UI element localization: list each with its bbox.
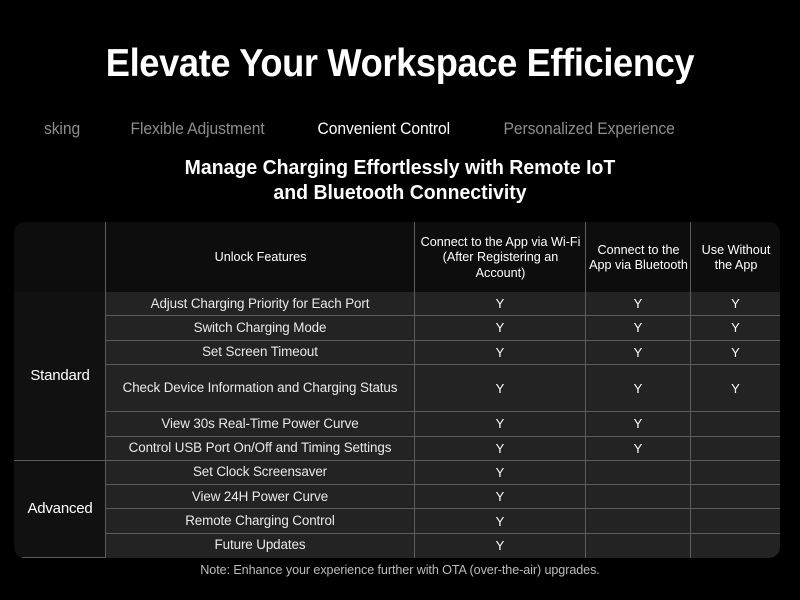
support-cell-no-app	[691, 412, 781, 436]
table-row: Switch Charging ModeYYY	[15, 316, 781, 340]
group-label-advanced: Advanced	[15, 460, 106, 557]
section-subtitle: Manage Charging Effortlessly with Remote…	[20, 155, 780, 205]
support-cell-bluetooth	[586, 485, 691, 509]
support-cell-no-app	[691, 436, 781, 460]
support-cell-no-app: Y	[691, 340, 781, 364]
support-cell-bluetooth: Y	[586, 340, 691, 364]
support-cell-wifi: Y	[415, 316, 586, 340]
header-use-without-app: Use Without the App	[692, 223, 779, 292]
feature-name-cell: Set Clock Screensaver	[106, 460, 415, 484]
table-header-row: Unlock Features Connect to the App via W…	[15, 223, 781, 292]
support-cell-wifi: Y	[415, 509, 586, 533]
nav-item-0[interactable]: sking	[43, 120, 79, 139]
table-row: Remote Charging ControlY	[15, 509, 781, 533]
table-row: Check Device Information and Charging St…	[15, 364, 781, 411]
support-cell-bluetooth: Y	[586, 412, 691, 436]
page-title: Elevate Your Workspace Efficiency	[28, 40, 772, 88]
support-cell-bluetooth: Y	[586, 316, 691, 340]
support-cell-wifi: Y	[415, 412, 586, 436]
header-connect-wifi: Connect to the App via Wi-Fi (After Regi…	[417, 223, 583, 292]
support-cell-no-app: Y	[691, 316, 781, 340]
support-cell-no-app: Y	[691, 292, 781, 316]
support-cell-bluetooth	[586, 509, 691, 533]
feature-name-cell: Control USB Port On/Off and Timing Setti…	[106, 436, 415, 460]
support-cell-no-app	[691, 509, 781, 533]
support-cell-wifi: Y	[415, 364, 586, 411]
support-cell-wifi: Y	[415, 292, 586, 316]
feature-name-cell: Adjust Charging Priority for Each Port	[106, 292, 415, 316]
support-cell-bluetooth: Y	[586, 436, 691, 460]
table-row: AdvancedSet Clock ScreensaverY	[15, 460, 781, 484]
feature-name-cell: Set Screen Timeout	[106, 340, 415, 364]
nav-item-1[interactable]: Flexible Adjustment	[130, 120, 264, 139]
feature-name-cell: View 24H Power Curve	[106, 485, 415, 509]
subtitle-line-1: Manage Charging Effortlessly with Remote…	[20, 155, 780, 180]
section-nav: skingFlexible AdjustmentConvenient Contr…	[0, 116, 800, 142]
support-cell-bluetooth	[586, 533, 691, 557]
support-cell-wifi: Y	[415, 460, 586, 484]
support-cell-wifi: Y	[415, 436, 586, 460]
support-cell-no-app	[691, 533, 781, 557]
support-cell-no-app	[691, 485, 781, 509]
feature-name-cell: View 30s Real-Time Power Curve	[106, 412, 415, 436]
subtitle-line-2: and Bluetooth Connectivity	[20, 180, 780, 205]
header-group-blank	[15, 223, 106, 292]
table-row: View 24H Power CurveY	[15, 485, 781, 509]
nav-item-2[interactable]: Convenient Control	[317, 120, 449, 139]
support-cell-bluetooth	[586, 460, 691, 484]
table-row: Set Screen TimeoutYYY	[15, 340, 781, 364]
support-cell-bluetooth: Y	[586, 292, 691, 316]
table-row: StandardAdjust Charging Priority for Eac…	[15, 292, 781, 316]
support-cell-wifi: Y	[415, 533, 586, 557]
feature-name-cell: Remote Charging Control	[106, 509, 415, 533]
header-unlock-features: Unlock Features	[110, 223, 410, 292]
support-cell-bluetooth: Y	[586, 364, 691, 411]
feature-name-cell: Future Updates	[106, 533, 415, 557]
header-connect-bluetooth: Connect to the App via Bluetooth	[587, 223, 689, 292]
table-row: View 30s Real-Time Power CurveYY	[15, 412, 781, 436]
group-label-standard: Standard	[15, 292, 106, 461]
table-row: Future UpdatesY	[15, 533, 781, 557]
feature-name-cell: Check Device Information and Charging St…	[106, 364, 415, 411]
support-cell-wifi: Y	[415, 485, 586, 509]
footer-note: Note: Enhance your experience further wi…	[12, 562, 788, 577]
support-cell-no-app: Y	[691, 364, 781, 411]
support-cell-no-app	[691, 460, 781, 484]
nav-item-3[interactable]: Personalized Experience	[504, 120, 675, 139]
table-row: Control USB Port On/Off and Timing Setti…	[15, 436, 781, 460]
feature-name-cell: Switch Charging Mode	[106, 316, 415, 340]
feature-comparison-table: Unlock Features Connect to the App via W…	[14, 222, 780, 558]
support-cell-wifi: Y	[415, 340, 586, 364]
